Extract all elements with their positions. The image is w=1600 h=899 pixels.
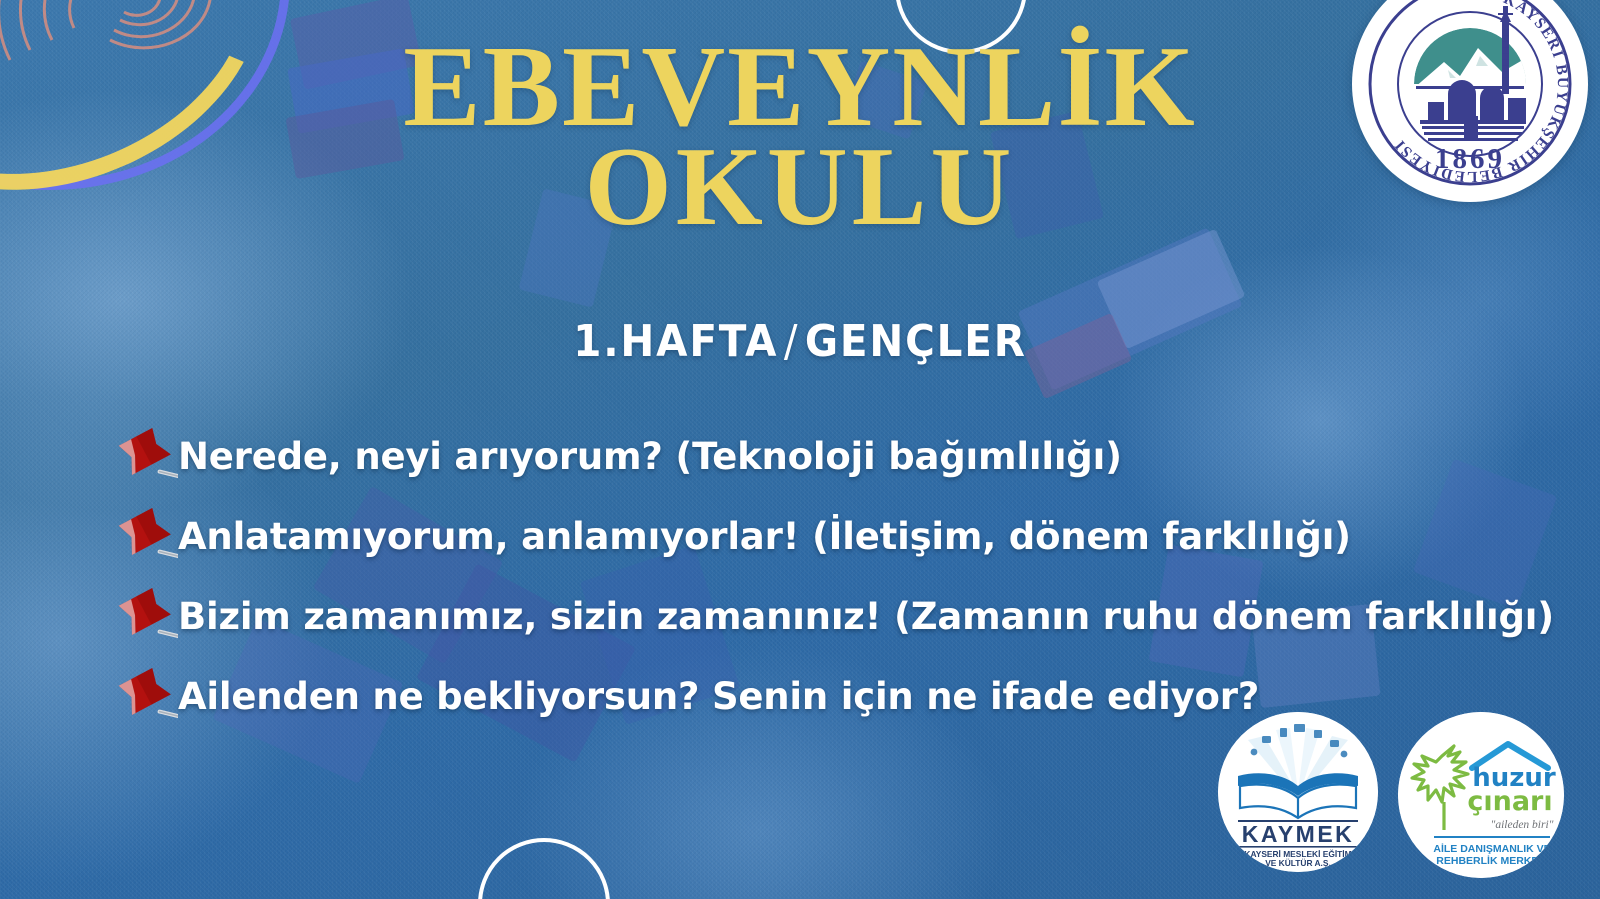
list-item: Bizim zamanımız, sizin zamanınız! (Zaman… bbox=[104, 576, 1570, 656]
poster-subtitle: 1.HAFTA/GENÇLER bbox=[64, 316, 1536, 367]
kaymek-sub-line-2: VE KÜLTÜR A.Ş. bbox=[1265, 858, 1331, 868]
huzur-tagline: "aileden biri" bbox=[1491, 819, 1554, 831]
kayseri-buyuksehir-belediyesi-logo: KAYSERİ BÜYÜKŞEHİR BELEDİYESİ bbox=[1352, 0, 1588, 202]
pushpin-icon bbox=[104, 659, 178, 733]
svg-text:1869: 1869 bbox=[1435, 143, 1505, 175]
list-item: Anlatamıyorum, anlamıyorlar! (İletişim, … bbox=[104, 496, 1570, 576]
cinari-word: çınarı bbox=[1467, 786, 1552, 817]
subtitle-audience: GENÇLER bbox=[805, 316, 1027, 367]
list-item-label: Bizim zamanımız, sizin zamanınız! (Zaman… bbox=[178, 595, 1554, 638]
list-item-label: Nerede, neyi arıyorum? (Teknoloji bağıml… bbox=[178, 435, 1122, 478]
pushpin-icon bbox=[104, 419, 178, 493]
kaymek-logo: KAYMEK KAYSERİ MESLEKİ EĞİTİM VE KÜLTÜR … bbox=[1218, 712, 1378, 872]
list-item-label: Ailenden ne bekliyorsun? Senin için ne i… bbox=[178, 675, 1259, 718]
subtitle-separator: / bbox=[778, 316, 805, 367]
subtitle-week: 1.HAFTA bbox=[573, 316, 778, 367]
huzur-cinari-logo: huzur çınarı "aileden biri" AİLE DANIŞMA… bbox=[1398, 712, 1564, 878]
huzur-sub-line-1: AİLE DANIŞMANLIK VE bbox=[1433, 842, 1550, 855]
list-item-label: Anlatamıyorum, anlamıyorlar! (İletişim, … bbox=[178, 515, 1351, 558]
list-item: Nerede, neyi arıyorum? (Teknoloji bağıml… bbox=[104, 416, 1570, 496]
kaymek-wordmark: KAYMEK bbox=[1242, 821, 1355, 847]
pushpin-icon bbox=[104, 499, 178, 573]
poster-canvas: EBEVEYNLİK OKULU 1.HAFTA/GENÇLER bbox=[0, 0, 1600, 899]
poster-content: EBEVEYNLİK OKULU 1.HAFTA/GENÇLER bbox=[0, 0, 1600, 899]
topic-list: Nerede, neyi arıyorum? (Teknoloji bağıml… bbox=[104, 416, 1570, 736]
list-item: Ailenden ne bekliyorsun? Senin için ne i… bbox=[104, 656, 1570, 736]
pushpin-icon bbox=[104, 579, 178, 653]
huzur-sub-line-2: REHBERLİK MERKEZİ bbox=[1436, 854, 1548, 867]
